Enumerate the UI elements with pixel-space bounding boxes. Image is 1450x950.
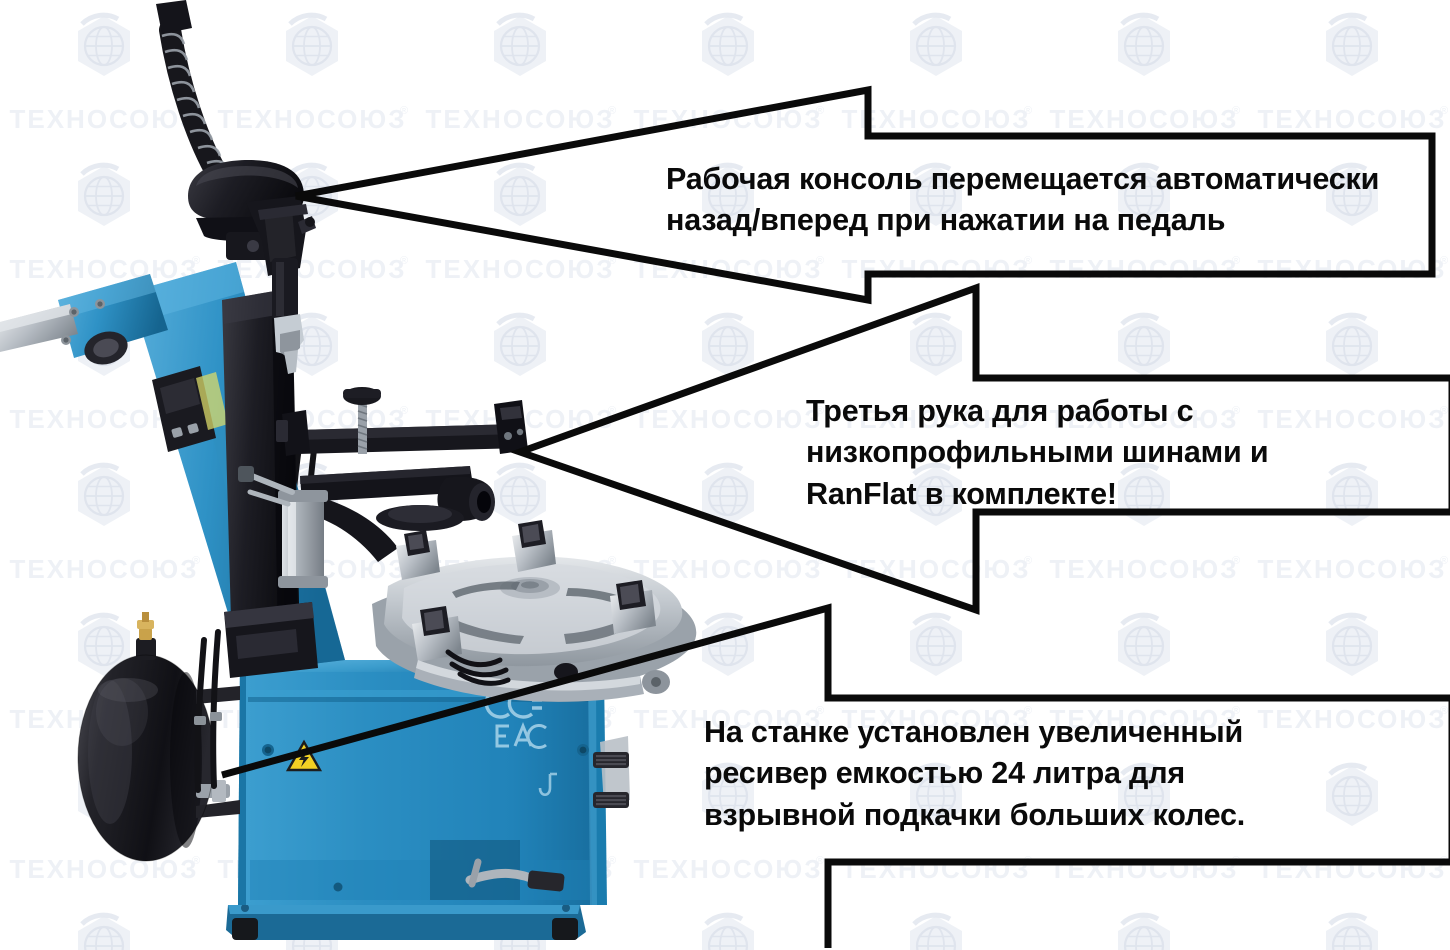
image-canvas: ТЕХНОСОЮЗ ® [0,0,1450,950]
turntable [372,520,696,702]
callout-2-text: Третья рука для работы с низкопрофильным… [806,391,1366,515]
callout-3-text: На станке установлен увеличенный ресивер… [704,712,1344,836]
product-photo [0,0,760,950]
base-frame [226,904,586,940]
callout-1-text: Рабочая консоль перемещается автоматичес… [666,159,1434,240]
